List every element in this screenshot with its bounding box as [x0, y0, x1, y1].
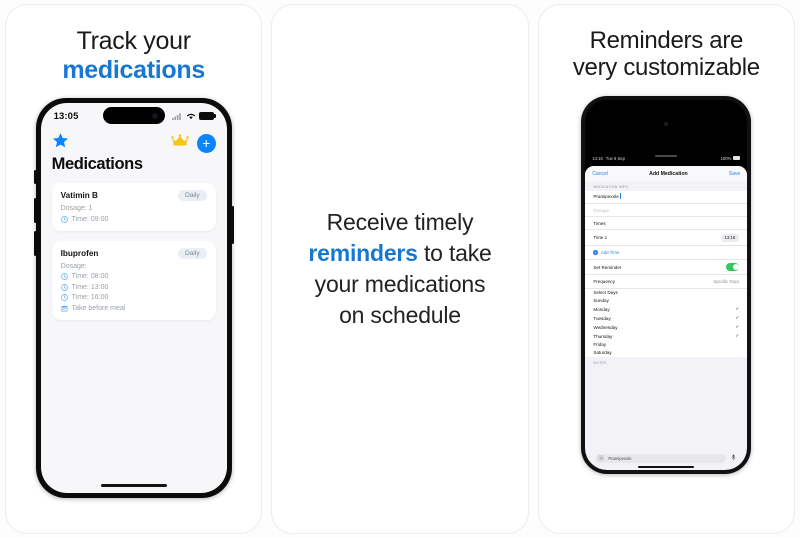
card-header: Vatimin B Daily — [61, 190, 207, 201]
day-row-friday[interactable]: Friday — [585, 341, 747, 349]
add-time-button[interactable]: + Add Time — [593, 250, 619, 255]
status-indicators — [172, 112, 214, 120]
panel1-headline: Track your medications — [62, 27, 205, 84]
day-label: Monday — [593, 307, 609, 312]
clock-icon — [61, 284, 68, 291]
panel-customizable-reminders: Reminders are very customizable 14:16 Tu… — [538, 4, 795, 534]
select-days-header: Select Days — [585, 289, 747, 297]
add-time-row[interactable]: + Add Time — [585, 246, 747, 259]
times-header-row: Times — [585, 217, 747, 230]
medication-dosage: Dosage: 1 — [61, 205, 207, 212]
sheet-drag-handle[interactable] — [655, 155, 677, 157]
day-label: Tuesday — [593, 316, 610, 321]
medication-name-field[interactable]: Pramipexole — [585, 191, 747, 204]
add-medication-button[interactable]: + — [197, 134, 216, 153]
clock-icon — [61, 294, 68, 301]
sheet-title: Add Medication — [649, 171, 688, 177]
set-reminder-label: Set Reminder — [593, 265, 621, 270]
suggestion-text: Pramipexole — [608, 456, 631, 461]
set-reminder-toggle[interactable] — [726, 263, 739, 271]
time-1-row[interactable]: Time 1 13:16 — [585, 230, 747, 246]
day-label: Saturday — [593, 350, 611, 355]
section-header-notes: Notes — [585, 357, 747, 367]
plus-circle-icon: + — [593, 250, 598, 255]
emoji-icon[interactable]: ☺ — [598, 455, 604, 461]
status-time: 14:16 — [592, 156, 602, 161]
day-row-sunday[interactable]: Sunday — [585, 297, 747, 305]
phone-mute-switch — [34, 170, 37, 184]
phone-volume-up-button — [34, 198, 37, 223]
dosage-placeholder: Dosage — [593, 208, 609, 213]
add-medication-sheet: Cancel Add Medication Save MEDICATION IN… — [585, 166, 747, 470]
nav-actions: + — [171, 134, 216, 153]
medication-card[interactable]: Vatimin B Daily Dosage: 1 Time: 09:00 — [52, 183, 216, 231]
set-reminder-row[interactable]: Set Reminder — [585, 260, 747, 276]
medication-note-row: Take before meal — [61, 305, 207, 312]
phone-volume-down-button — [34, 231, 37, 256]
add-time-label: Add Time — [601, 250, 620, 255]
status-left: 14:16 Tue 8 Sep — [592, 156, 625, 161]
copy-line-1: Receive timely — [308, 207, 491, 238]
copy-line-3: your medications — [308, 269, 491, 300]
panel2-copy: Receive timely reminders to take your me… — [294, 207, 505, 331]
frequency-label: Frequency — [593, 279, 615, 284]
time-label: Time: 16:00 — [72, 294, 109, 301]
crown-icon[interactable] — [171, 134, 189, 153]
front-camera-icon — [664, 122, 668, 126]
medication-name: Ibuprofen — [61, 249, 99, 258]
time-label: Time: 09:00 — [72, 216, 109, 223]
status-bar: 13:05 — [41, 103, 227, 129]
headline-line-1: Reminders are — [573, 27, 760, 54]
frequency-value: Specific Days — [713, 279, 739, 284]
time-label: Time: 13:00 — [72, 284, 109, 291]
day-row-saturday[interactable]: Saturday — [585, 349, 747, 357]
status-right: 100% — [721, 156, 741, 161]
headline-line-2: very customizable — [573, 54, 760, 81]
screenshot-stage: Track your medications 13:05 — [0, 0, 800, 538]
mic-icon[interactable] — [730, 454, 737, 463]
star-icon[interactable] — [52, 132, 69, 154]
clock-icon — [61, 216, 68, 223]
front-camera-icon — [152, 113, 158, 119]
page-title: Medications — [41, 154, 227, 174]
time-label: Time: 08:00 — [72, 273, 109, 280]
day-row-thursday[interactable]: Thursday ✓ — [585, 332, 747, 341]
battery-icon — [733, 156, 740, 160]
battery-percent: 100% — [721, 156, 732, 161]
suggestion-pill[interactable]: ☺ Pramipexole — [595, 454, 726, 463]
home-indicator — [638, 466, 694, 468]
clock-icon — [61, 273, 68, 280]
wifi-icon — [186, 112, 196, 120]
medication-time-row: Time: 13:00 — [61, 284, 207, 291]
copy-line-2-rest: to take — [418, 240, 492, 266]
phone-screen: 14:16 Tue 8 Sep 100% Cancel Add Medicati… — [585, 100, 747, 470]
day-label: Wednesday — [593, 325, 617, 330]
sheet-header: Cancel Add Medication Save — [585, 166, 747, 181]
headline-line-2: medications — [62, 56, 205, 85]
day-row-tuesday[interactable]: Tuesday ✓ — [585, 314, 747, 323]
keyboard-suggestion-bar: ☺ Pramipexole — [585, 454, 747, 463]
panel-reminders-copy: Receive timely reminders to take your me… — [271, 4, 528, 534]
day-check-icon: ✓ — [735, 324, 739, 330]
day-label: Sunday — [593, 298, 609, 303]
home-indicator — [101, 484, 167, 487]
copy-line-4: on schedule — [308, 300, 491, 331]
day-check-icon: ✓ — [735, 315, 739, 321]
day-label: Thursday — [593, 334, 612, 339]
medication-card[interactable]: Ibuprofen Daily Dosage: Time: 08:00 — [52, 241, 216, 320]
phone-power-button — [231, 206, 234, 244]
panel-track-medications: Track your medications 13:05 — [5, 4, 262, 534]
section-header-medication-info: MEDICATION INFO — [585, 181, 747, 191]
cellular-icon — [172, 112, 183, 120]
status-time: 13:05 — [54, 111, 79, 122]
frequency-badge: Daily — [178, 190, 207, 201]
medication-name-value: Pramipexole — [593, 194, 619, 199]
time-1-label: Time 1 — [593, 235, 607, 240]
phone-mockup-add-medication: 14:16 Tue 8 Sep 100% Cancel Add Medicati… — [581, 96, 751, 474]
status-date: Tue 8 Sep — [606, 156, 625, 161]
day-check-icon: ✓ — [735, 333, 739, 339]
cancel-button[interactable]: Cancel — [592, 171, 608, 177]
time-1-value[interactable]: 13:16 — [721, 234, 740, 242]
panel3-headline: Reminders are very customizable — [573, 27, 760, 82]
battery-icon — [199, 112, 214, 120]
dynamic-island — [103, 107, 165, 124]
card-header: Ibuprofen Daily — [61, 248, 207, 259]
select-days-label: Select Days — [593, 290, 618, 295]
medication-list: Vatimin B Daily Dosage: 1 Time: 09:00 — [41, 174, 227, 320]
day-row-monday[interactable]: Monday ✓ — [585, 305, 747, 314]
phone-mockup-medications: 13:05 — [36, 98, 232, 498]
dosage-field[interactable]: Dosage — [585, 204, 747, 217]
nav-bar: + — [41, 129, 227, 154]
medication-time-row: Time: 09:00 — [61, 216, 207, 223]
copy-highlight: reminders — [308, 240, 417, 266]
note-label: Take before meal — [72, 305, 126, 312]
save-button[interactable]: Save — [729, 171, 740, 177]
copy-line-2: reminders to take — [308, 238, 491, 269]
frequency-row[interactable]: Frequency Specific Days — [585, 275, 747, 288]
day-label: Friday — [593, 342, 606, 347]
phone-screen: 13:05 — [41, 103, 227, 493]
medication-time-row: Time: 08:00 — [61, 273, 207, 280]
day-row-wednesday[interactable]: Wednesday ✓ — [585, 323, 747, 332]
note-icon — [61, 305, 68, 312]
times-label: Times — [593, 221, 605, 226]
day-check-icon: ✓ — [735, 306, 739, 312]
frequency-badge: Daily — [178, 248, 207, 259]
headline-line-1: Track your — [62, 27, 205, 56]
medication-dosage: Dosage: — [61, 263, 207, 270]
medication-name: Vatimin B — [61, 191, 98, 200]
medication-time-row: Time: 16:00 — [61, 294, 207, 301]
